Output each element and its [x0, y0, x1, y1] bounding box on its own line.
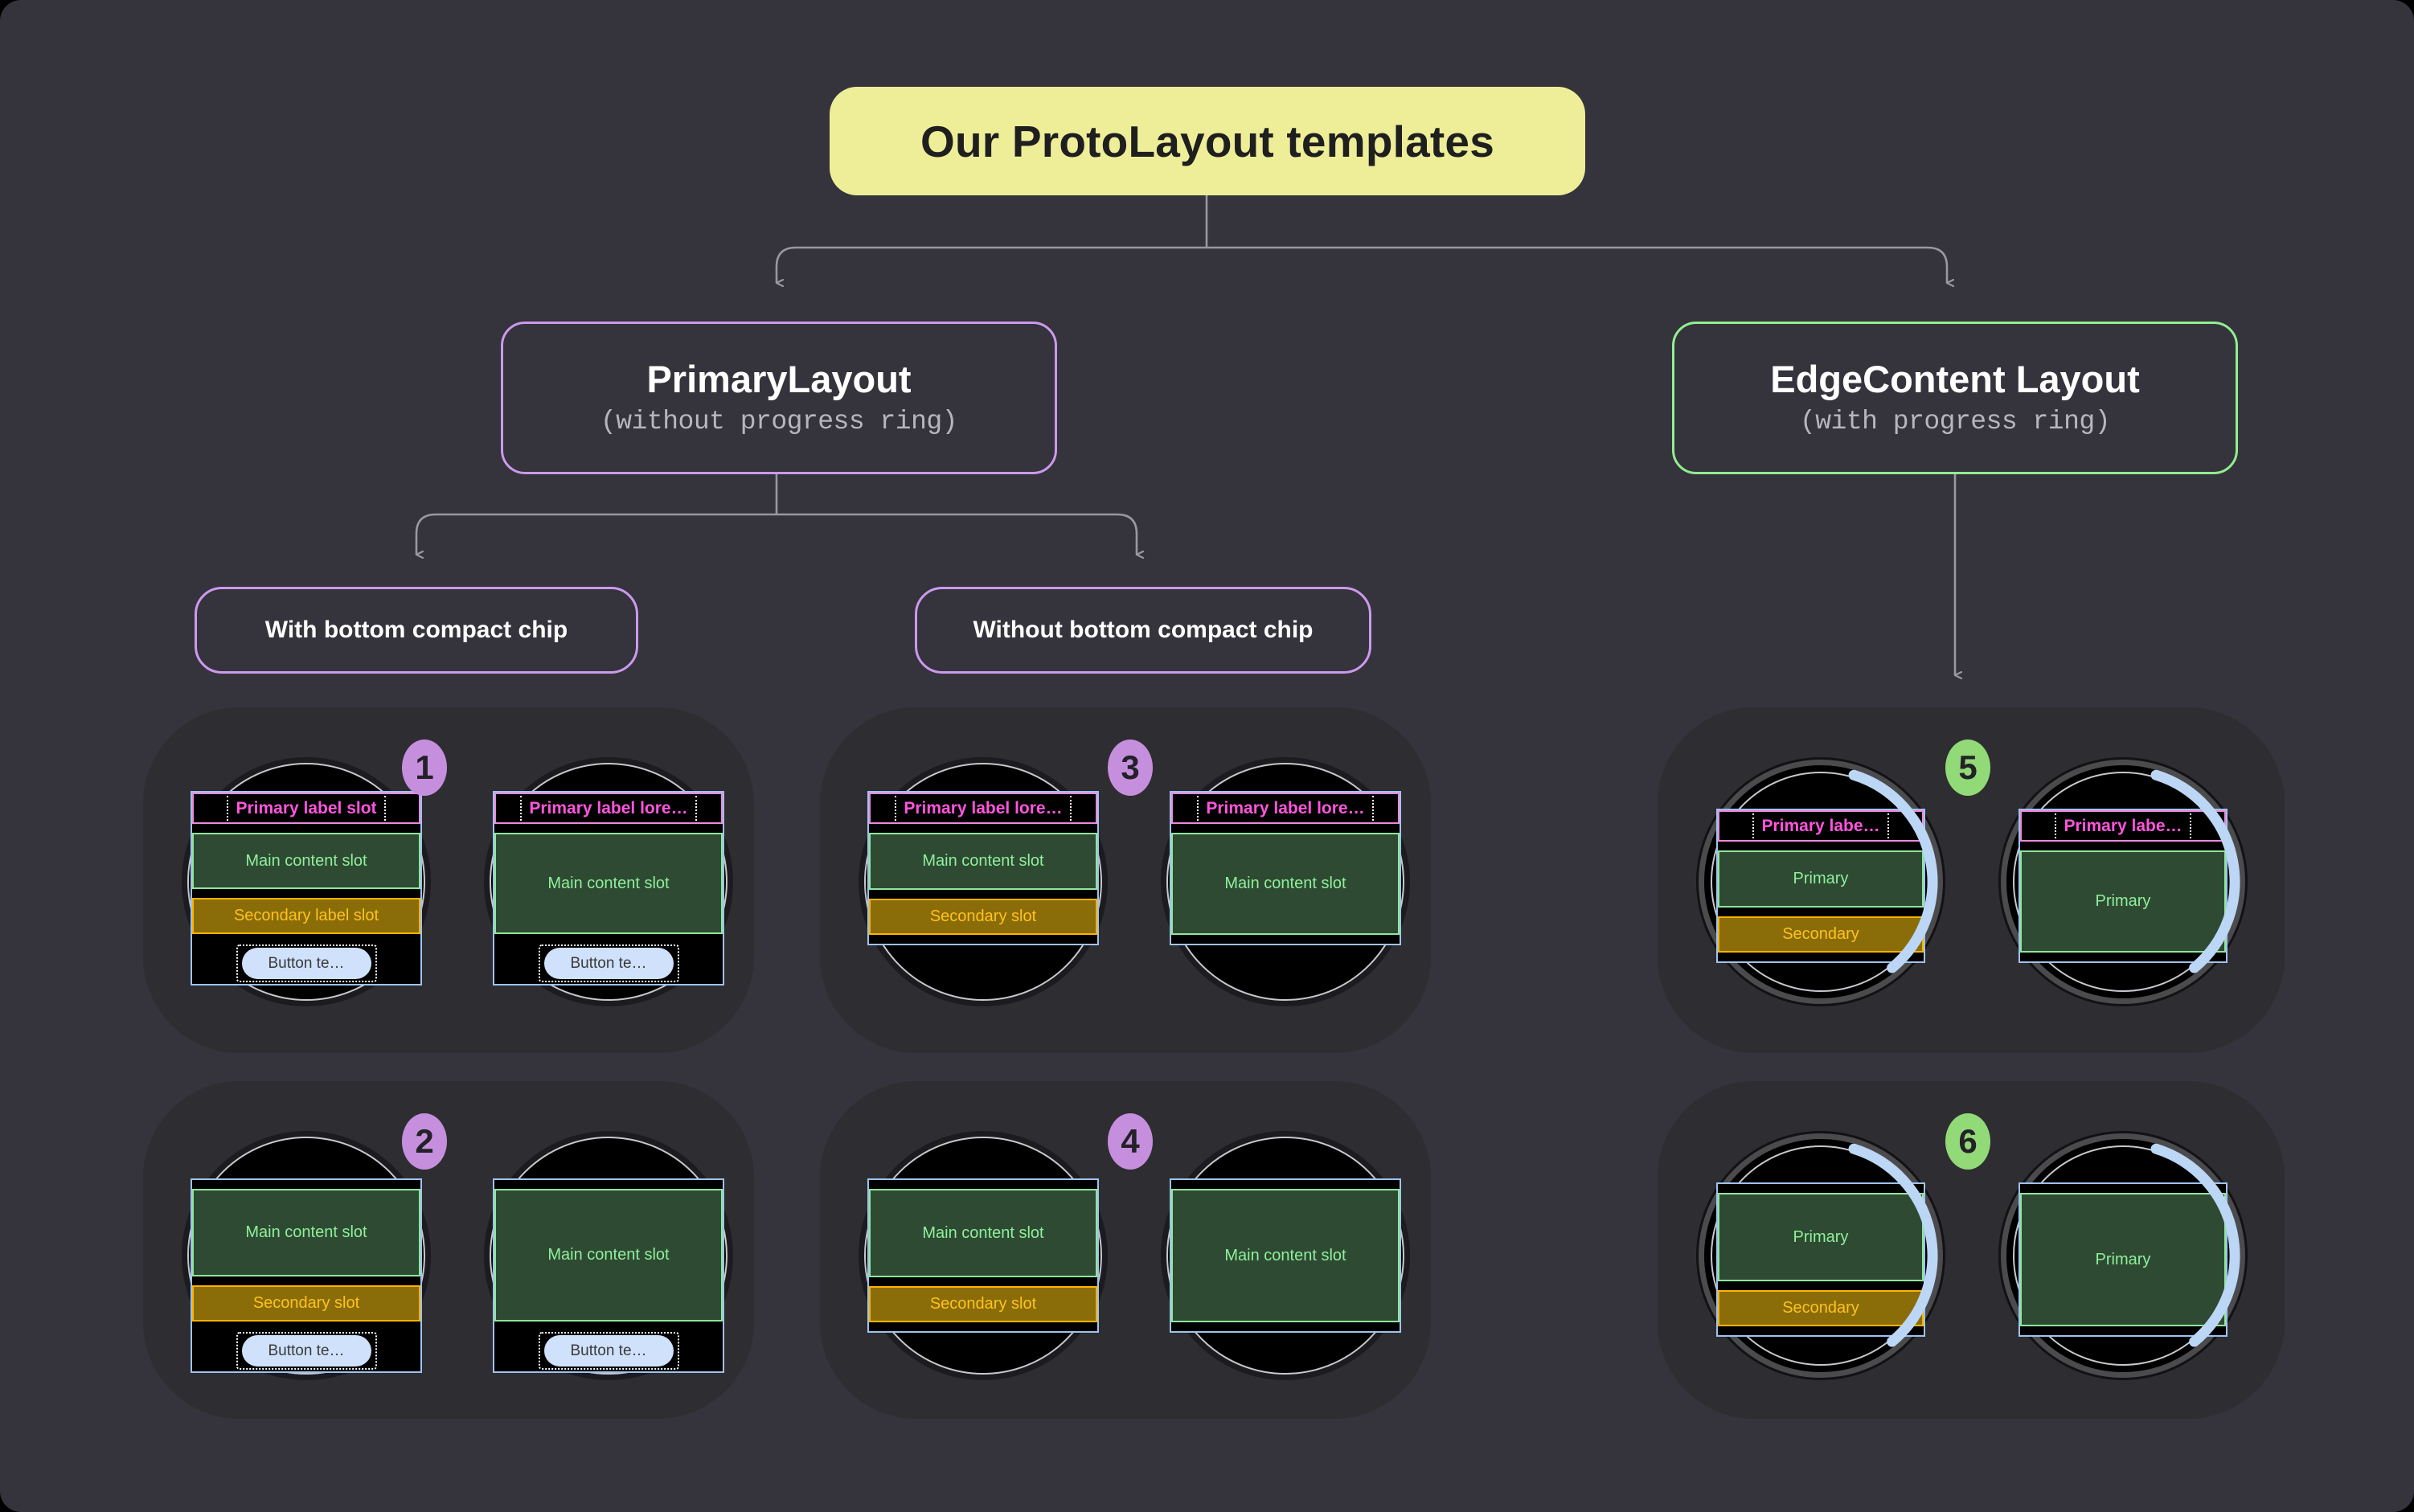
slot-stack: Primary labe…PrimarySecondary	[1716, 809, 1925, 963]
primary-layout-label: PrimaryLayout	[646, 359, 911, 399]
slot-main-content: Main content slot	[1171, 1189, 1400, 1322]
slot-spacer	[494, 1321, 723, 1330]
slot-stack: Primary labe…Primary	[2018, 809, 2228, 963]
slot-spacer	[869, 1322, 1097, 1331]
slot-stack: Primary label lore…Main content slot	[1170, 791, 1401, 945]
watch-mockup: Main content slot	[1161, 1131, 1410, 1380]
compact-chip-button[interactable]: Button te…	[544, 948, 674, 979]
watch-mockup: Primary label lore…Main content slot	[1161, 757, 1410, 1006]
slot-spacer	[869, 824, 1097, 833]
watch-mockup: Primary label slotMain content slotSecon…	[182, 757, 431, 1006]
slot-main-content: Primary	[1718, 1193, 1924, 1281]
watch-mockup: Primary label lore…Main content slotSeco…	[859, 757, 1108, 1006]
slot-spacer	[494, 934, 723, 943]
slot-spacer	[494, 824, 723, 833]
slot-stack: PrimarySecondary	[1716, 1182, 1925, 1337]
slot-spacer	[1718, 908, 1924, 916]
slot-button: Button te…	[494, 1330, 723, 1371]
watch-mockup: Primary labe…Primary	[1998, 757, 2248, 1006]
node-without-bottom-compact-chip[interactable]: Without bottom compact chip	[915, 587, 1371, 674]
slot-spacer	[1171, 1180, 1400, 1189]
slot-primary-label: Primary label lore…	[869, 793, 1097, 824]
slot-secondary: Secondary slot	[869, 899, 1097, 935]
slot-stack: Primary label lore…Main content slotButt…	[493, 791, 724, 985]
watch-mockup: Main content slotSecondary slotButton te…	[182, 1131, 431, 1380]
slot-spacer	[1718, 1281, 1924, 1290]
watch-mockup: Primary labe…PrimarySecondary	[1696, 757, 1945, 1006]
slot-button: Button te…	[494, 943, 723, 984]
slot-spacer	[2020, 953, 2226, 961]
group-badge: 1	[402, 740, 447, 796]
slot-main-content: Main content slot	[869, 1189, 1097, 1277]
slot-primary-label-text: Primary label lore…	[895, 796, 1071, 820]
slot-spacer	[869, 890, 1097, 899]
group-badge: 4	[1108, 1113, 1153, 1170]
slot-spacer	[2020, 1184, 2226, 1193]
node-primary-layout[interactable]: PrimaryLayout (without progress ring)	[501, 322, 1057, 474]
slot-spacer	[1718, 953, 1924, 961]
slot-stack: Primary label slotMain content slotSecon…	[191, 791, 422, 985]
slot-spacer	[2020, 842, 2226, 850]
slot-spacer	[192, 1321, 420, 1330]
slot-main-content: Primary	[1718, 850, 1924, 908]
group-badge: 3	[1108, 740, 1153, 796]
slot-spacer	[192, 1276, 420, 1285]
edgecontent-layout-label: EdgeContent Layout	[1770, 359, 2140, 399]
slot-primary-label-text: Primary labe…	[2055, 813, 2191, 838]
node-edgecontent-layout[interactable]: EdgeContent Layout (with progress ring)	[1672, 322, 2238, 474]
slot-stack: Primary	[2018, 1182, 2228, 1337]
slot-main-content: Main content slot	[1171, 833, 1400, 935]
slot-primary-label: Primary label lore…	[1171, 793, 1400, 824]
slot-spacer	[192, 1180, 420, 1189]
slot-main-content: Primary	[2020, 1193, 2226, 1326]
slot-spacer	[2020, 1326, 2226, 1335]
watch-mockup: Main content slotButton te…	[484, 1131, 733, 1380]
slot-stack: Main content slot	[1170, 1178, 1401, 1333]
compact-chip-button[interactable]: Button te…	[242, 1335, 371, 1367]
slot-main-content: Main content slot	[192, 1189, 420, 1276]
slot-spacer	[1718, 1326, 1924, 1335]
slot-spacer	[192, 889, 420, 898]
compact-chip-button[interactable]: Button te…	[544, 1335, 674, 1367]
slot-main-content: Primary	[2020, 850, 2226, 953]
slot-primary-label: Primary label slot	[192, 793, 420, 824]
without-chip-label: Without bottom compact chip	[973, 617, 1313, 644]
slot-spacer	[192, 824, 420, 833]
slot-spacer	[869, 1277, 1097, 1286]
slot-stack: Main content slotSecondary slot	[867, 1178, 1099, 1333]
slot-spacer	[869, 935, 1097, 944]
slot-secondary: Secondary	[1718, 1290, 1924, 1326]
slot-spacer	[1171, 1322, 1400, 1331]
slot-secondary: Secondary slot	[869, 1286, 1097, 1322]
slot-primary-label: Primary labe…	[2020, 810, 2226, 842]
slot-spacer	[192, 934, 420, 943]
slot-spacer	[1718, 1184, 1924, 1193]
node-with-bottom-compact-chip[interactable]: With bottom compact chip	[195, 587, 638, 674]
primary-layout-sublabel: (without progress ring)	[600, 407, 957, 436]
slot-main-content: Main content slot	[192, 833, 420, 889]
group-badge: 5	[1945, 740, 1990, 796]
slot-spacer	[869, 1180, 1097, 1189]
edgecontent-layout-sublabel: (with progress ring)	[1800, 407, 2110, 436]
watch-mockup: Primary label lore…Main content slotButt…	[484, 757, 733, 1006]
slot-primary-label-text: Primary label lore…	[1197, 796, 1373, 820]
slot-main-content: Main content slot	[494, 833, 723, 934]
slot-stack: Main content slotSecondary slotButton te…	[191, 1178, 422, 1373]
slot-spacer	[1171, 824, 1400, 833]
slot-primary-label-text: Primary label slot	[227, 796, 385, 820]
slot-button: Button te…	[192, 1330, 420, 1371]
slot-button: Button te…	[192, 943, 420, 984]
slot-main-content: Main content slot	[869, 833, 1097, 890]
group-badge: 6	[1945, 1113, 1990, 1170]
slot-spacer	[1718, 842, 1924, 850]
slot-stack: Primary label lore…Main content slotSeco…	[867, 791, 1099, 945]
slot-spacer	[1171, 935, 1400, 944]
slot-secondary: Secondary label slot	[192, 898, 420, 934]
slot-spacer	[494, 1180, 723, 1189]
slot-secondary: Secondary slot	[192, 1285, 420, 1321]
watch-mockup: Primary	[1998, 1131, 2248, 1380]
slot-primary-label-text: Primary labe…	[1752, 813, 1888, 838]
slot-primary-label: Primary label lore…	[494, 793, 723, 824]
slot-primary-label-text: Primary label lore…	[520, 796, 696, 820]
watch-mockup: Main content slotSecondary slot	[859, 1131, 1108, 1380]
with-chip-label: With bottom compact chip	[265, 617, 568, 644]
compact-chip-button[interactable]: Button te…	[242, 948, 371, 979]
diagram-canvas: Our ProtoLayout templates PrimaryLayout …	[0, 0, 2414, 1512]
slot-main-content: Main content slot	[494, 1189, 723, 1321]
watch-mockup: PrimarySecondary	[1696, 1131, 1945, 1380]
slot-stack: Main content slotButton te…	[493, 1178, 724, 1373]
root-title-label: Our ProtoLayout templates	[920, 116, 1494, 167]
slot-primary-label: Primary labe…	[1718, 810, 1924, 842]
slot-secondary: Secondary	[1718, 916, 1924, 953]
group-badge: 2	[402, 1113, 447, 1170]
node-root-title: Our ProtoLayout templates	[830, 87, 1585, 195]
